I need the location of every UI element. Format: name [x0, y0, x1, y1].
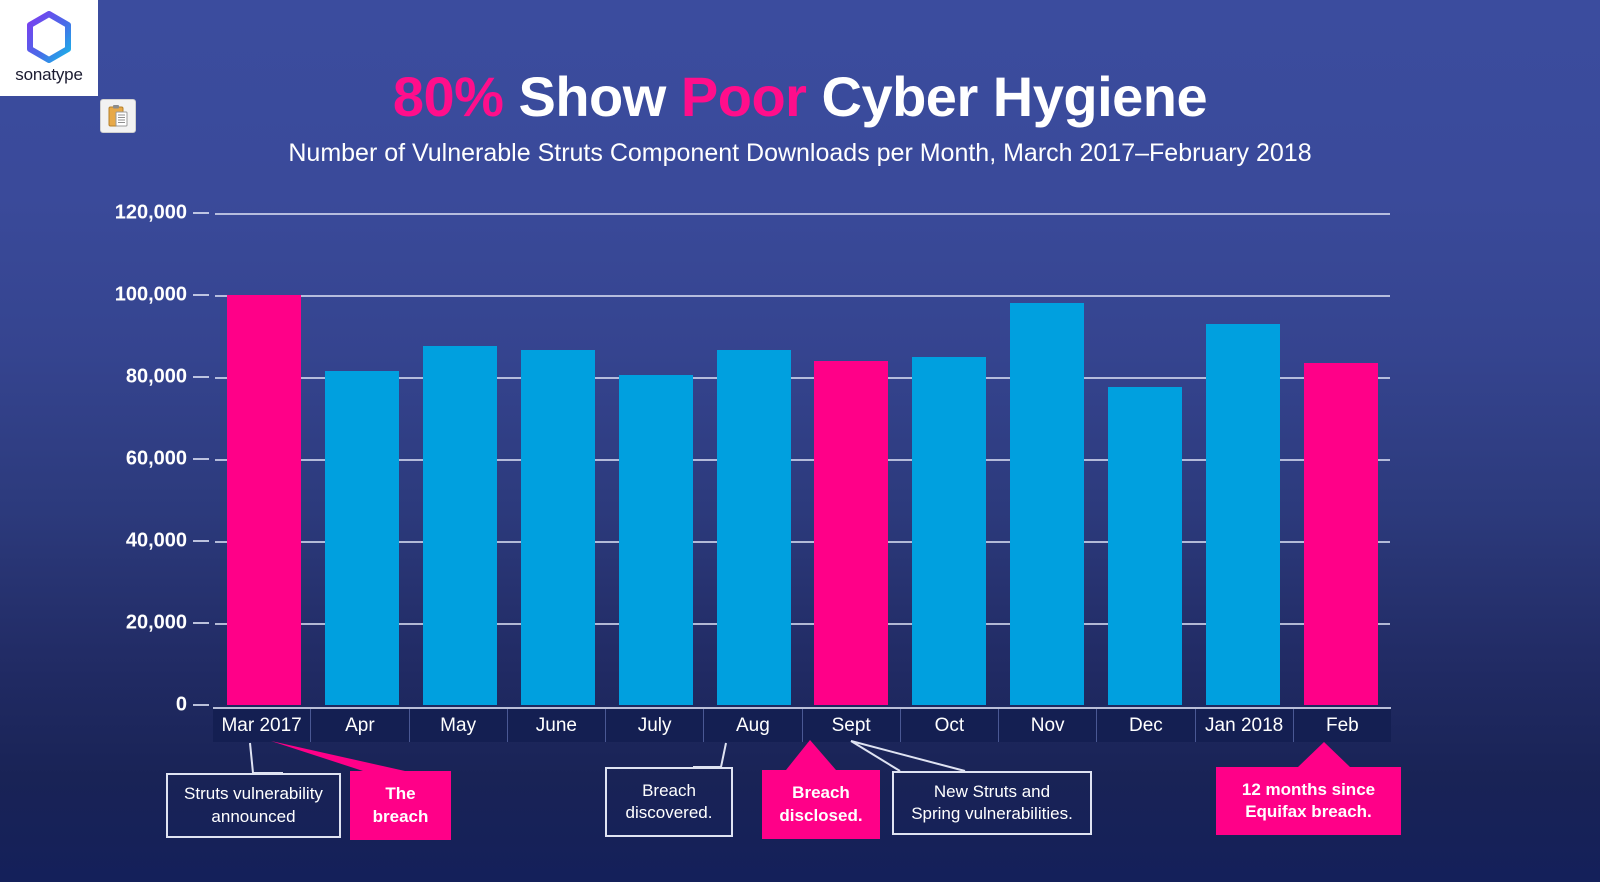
y-axis-tick-mark — [193, 458, 209, 460]
callout-text: Breach disclosed. — [779, 782, 862, 827]
callout-breach-disclosed[interactable]: Breach disclosed. — [762, 770, 880, 839]
callout-struts-announced[interactable]: Struts vulnerability announced — [166, 773, 341, 838]
x-axis-label-jan-2018: Jan 2018 — [1195, 709, 1293, 742]
page-subtitle: Number of Vulnerable Struts Component Do… — [0, 139, 1600, 168]
bar-may[interactable] — [423, 346, 497, 705]
bar-june[interactable] — [521, 350, 595, 705]
bar-aug[interactable] — [717, 350, 791, 705]
y-axis-tick-label: 80,000 — [67, 366, 187, 389]
callout-text: The breach — [373, 783, 429, 828]
callout-twelve-months[interactable]: 12 months since Equifax breach. — [1216, 767, 1401, 835]
bars-group — [215, 213, 1390, 705]
x-axis-label-feb: Feb — [1293, 709, 1391, 742]
bar-feb[interactable] — [1304, 363, 1378, 705]
bar-chart-plot: 020,00040,00060,00080,000100,000120,000 — [215, 213, 1390, 705]
callout-text: Breach discovered. — [626, 780, 713, 825]
bar-apr[interactable] — [325, 371, 399, 705]
y-axis-tick-mark — [193, 622, 209, 624]
x-axis-label-nov: Nov — [998, 709, 1096, 742]
bar-mar-2017[interactable] — [227, 295, 301, 705]
callout-text: Struts vulnerability announced — [184, 783, 323, 828]
callout-breach-discovered[interactable]: Breach discovered. — [605, 767, 733, 837]
title-part-poor: Poor — [681, 65, 807, 128]
title-part-show: Show — [519, 65, 666, 128]
y-axis-tick-label: 20,000 — [67, 612, 187, 635]
y-axis-tick-mark — [193, 704, 209, 706]
x-axis-label-sept: Sept — [802, 709, 900, 742]
y-axis-tick-label: 120,000 — [67, 202, 187, 225]
callout-text: 12 months since Equifax breach. — [1242, 779, 1375, 824]
x-axis-label-july: July — [605, 709, 703, 742]
x-axis-label-dec: Dec — [1096, 709, 1194, 742]
y-axis-tick-label: 60,000 — [67, 448, 187, 471]
y-axis-tick-mark — [193, 376, 209, 378]
title-part-percent: 80% — [393, 65, 504, 128]
x-axis-label-june: June — [507, 709, 605, 742]
bar-sept[interactable] — [814, 361, 888, 705]
slide-canvas: sonatype 80% Show Poor Cyber Hygiene Num… — [0, 0, 1600, 882]
x-axis-labels: Mar 2017AprMayJuneJulyAugSeptOctNovDecJa… — [213, 707, 1391, 742]
y-axis-tick-mark — [193, 540, 209, 542]
x-axis-label-oct: Oct — [900, 709, 998, 742]
y-axis-tick-label: 0 — [67, 694, 187, 717]
callout-the-breach[interactable]: The breach — [350, 771, 451, 840]
bar-dec[interactable] — [1108, 387, 1182, 705]
title-part-cyberhygiene: Cyber Hygiene — [822, 65, 1208, 128]
callout-new-struts-spring[interactable]: New Struts and Spring vulnerabilities. — [892, 771, 1092, 835]
y-axis-tick-label: 40,000 — [67, 530, 187, 553]
hexagon-logo-icon — [25, 11, 73, 63]
bar-jan-2018[interactable] — [1206, 324, 1280, 705]
bar-oct[interactable] — [912, 357, 986, 706]
callout-text: New Struts and Spring vulnerabilities. — [911, 781, 1073, 826]
x-axis-label-mar-2017: Mar 2017 — [213, 709, 310, 742]
x-axis-label-may: May — [409, 709, 507, 742]
x-axis-label-apr: Apr — [310, 709, 408, 742]
bar-nov[interactable] — [1010, 303, 1084, 705]
x-axis-label-aug: Aug — [703, 709, 801, 742]
y-axis-tick-label: 100,000 — [67, 284, 187, 307]
bar-july[interactable] — [619, 375, 693, 705]
y-axis-tick-mark — [193, 294, 209, 296]
y-axis-tick-mark — [193, 212, 209, 214]
page-title: 80% Show Poor Cyber Hygiene — [0, 68, 1600, 127]
